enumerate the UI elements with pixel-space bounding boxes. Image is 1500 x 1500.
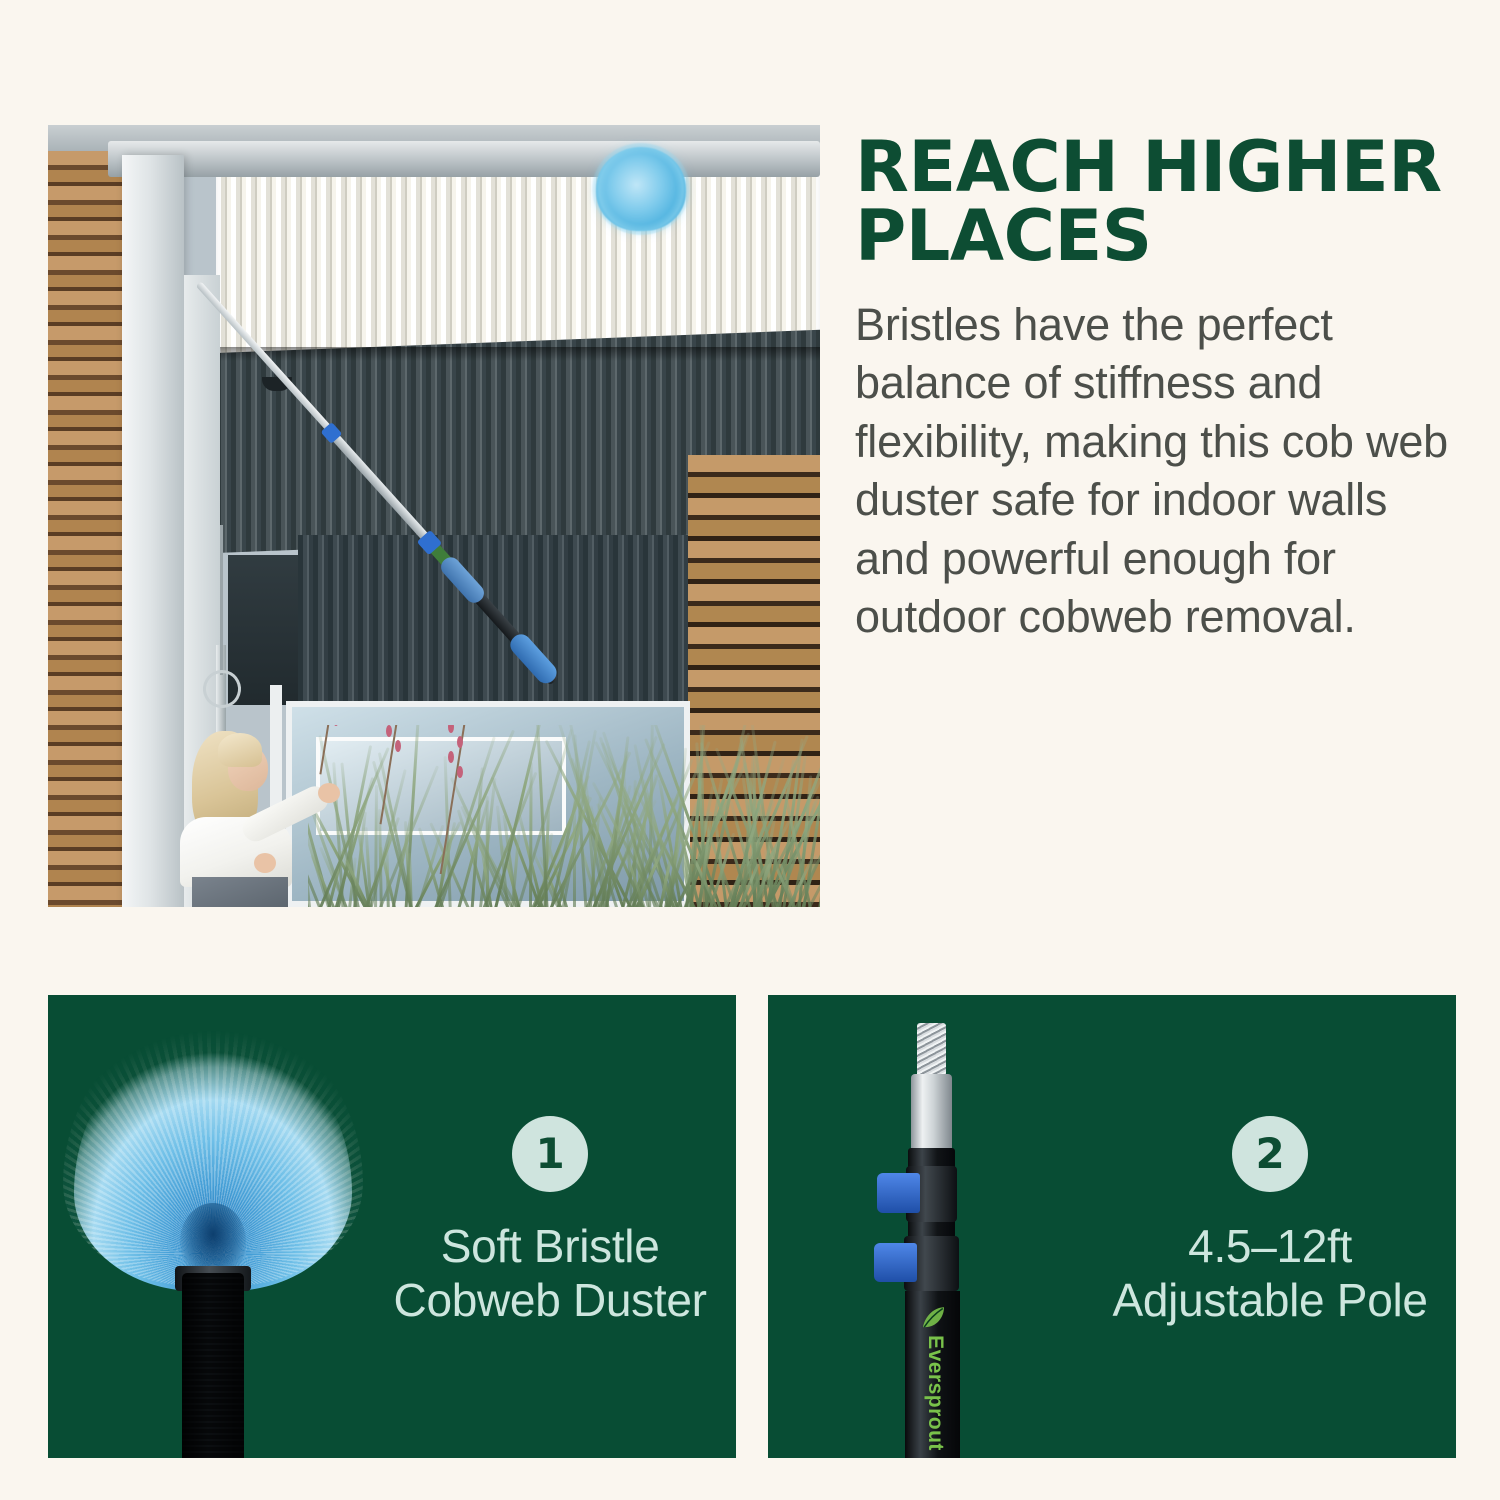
hero-description: Bristles have the perfect balance of sti…: [855, 296, 1455, 647]
flip-lock-lever-upper: [877, 1173, 920, 1212]
wind-chime-cord: [220, 525, 223, 675]
duster-ribbed-handle: [182, 1273, 245, 1458]
flower-bud: [457, 766, 463, 778]
feature-1-text: 1 Soft Bristle Cobweb Duster: [378, 995, 736, 1458]
pole-illustration: Eversprout: [768, 995, 1098, 1458]
hero-photo: [48, 125, 820, 907]
feature-panel-2: Eversprout 2 4.5–12ft Adjustable Pole: [768, 995, 1456, 1458]
page-title: REACH HIGHER PLACES: [855, 133, 1456, 272]
duster-product-photo: [48, 995, 378, 1458]
step-badge-1: 1: [512, 1116, 588, 1192]
leaf-icon: [918, 1301, 948, 1333]
pole-brand-text: Eversprout: [913, 1338, 956, 1449]
corrugated-white-panel: [216, 170, 820, 360]
person-using-duster: [166, 725, 376, 907]
hero-copy: REACH HIGHER PLACES Bristles have the pe…: [855, 125, 1456, 907]
ornamental-grass: [308, 725, 820, 907]
eave-shadow: [216, 347, 820, 361]
feature-1-label: Soft Bristle Cobweb Duster: [378, 1220, 722, 1328]
feature-panels: 1 Soft Bristle Cobweb Duster: [48, 995, 1456, 1458]
hair-front: [218, 733, 262, 767]
duster-illustration: [48, 995, 378, 1458]
feature-panel-1: 1 Soft Bristle Cobweb Duster: [48, 995, 736, 1458]
metal-tip: [911, 1074, 953, 1153]
flower-bud: [448, 751, 454, 763]
flower-bud: [395, 740, 401, 752]
pole-product-photo: Eversprout: [768, 995, 1098, 1458]
step-badge-2: 2: [1232, 1116, 1308, 1192]
lower-hand: [254, 853, 276, 873]
flower-bud: [386, 725, 392, 737]
duster-head-in-photo: [596, 147, 686, 231]
hero-section: REACH HIGHER PLACES Bristles have the pe…: [48, 125, 1456, 907]
brand-name: Eversprout: [923, 1335, 947, 1451]
infographic-page: REACH HIGHER PLACES Bristles have the pe…: [0, 0, 1500, 1500]
gray-skirt: [192, 877, 288, 907]
feature-2-text: 2 4.5–12ft Adjustable Pole: [1098, 995, 1456, 1458]
roof-fascia: [108, 141, 820, 177]
flower-bud: [448, 725, 454, 733]
feature-2-label: 4.5–12ft Adjustable Pole: [1098, 1220, 1442, 1328]
flip-lock-lever-lower: [874, 1243, 917, 1282]
threaded-tip: [917, 1023, 947, 1079]
flower-bud: [457, 736, 463, 748]
blue-bristle-dome: [74, 1032, 351, 1291]
upper-hand: [318, 783, 340, 803]
